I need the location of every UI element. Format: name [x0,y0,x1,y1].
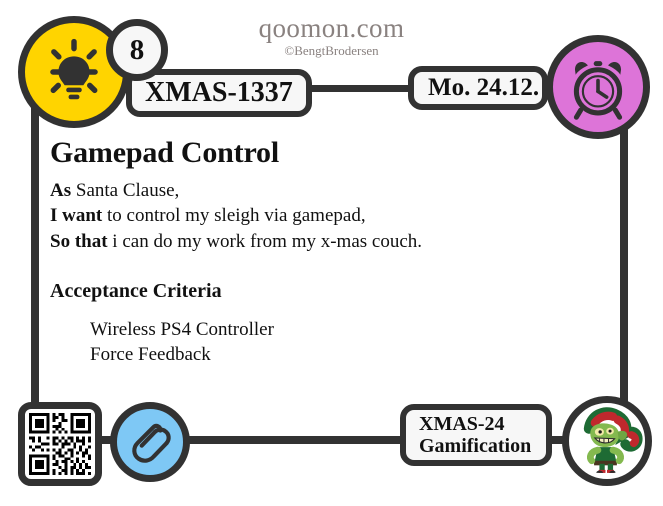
connector-line-left [31,88,39,410]
elf-avatar-icon[interactable] [562,396,652,486]
story-sothat-line: So that i can do my work from my x-mas c… [50,229,570,254]
story-role-line: As Santa Clause, [50,178,570,203]
story-id-label[interactable]: XMAS-1337 [126,69,312,117]
criteria-item: Force Feedback [90,342,570,368]
alarm-clock-icon[interactable] [546,35,650,139]
criteria-item: Wireless PS4 Controller [90,317,570,343]
story-id-text: XMAS-1337 [145,77,293,109]
story-sothat-text: i can do my work from my x-mas couch. [108,231,422,252]
paperclip-icon[interactable] [110,402,190,482]
connector-line-right [620,88,628,418]
epic-label[interactable]: XMAS-24 Gamification [400,404,552,466]
due-date-text: Mo. 24.12. [428,74,539,102]
acceptance-criteria-heading: Acceptance Criteria [50,280,570,303]
story-want-keyword: I want [50,205,102,226]
epic-name-text: Gamification [419,435,531,457]
story-want-text: to control my sleigh via gamepad, [102,205,365,226]
story-want-line: I want to control my sleigh via gamepad, [50,203,570,228]
due-date-label[interactable]: Mo. 24.12. [408,66,548,110]
story-card-body: Gamepad Control As Santa Clause, I want … [50,136,570,368]
story-sothat-keyword: So that [50,231,108,252]
story-role-keyword: As [50,180,71,201]
story-role-text: Santa Clause, [71,180,179,201]
story-points-badge: 8 [106,19,168,81]
story-title: Gamepad Control [50,136,570,170]
qr-code-icon[interactable] [18,402,102,486]
story-points-value: 8 [130,34,145,67]
epic-id-text: XMAS-24 [419,413,505,435]
